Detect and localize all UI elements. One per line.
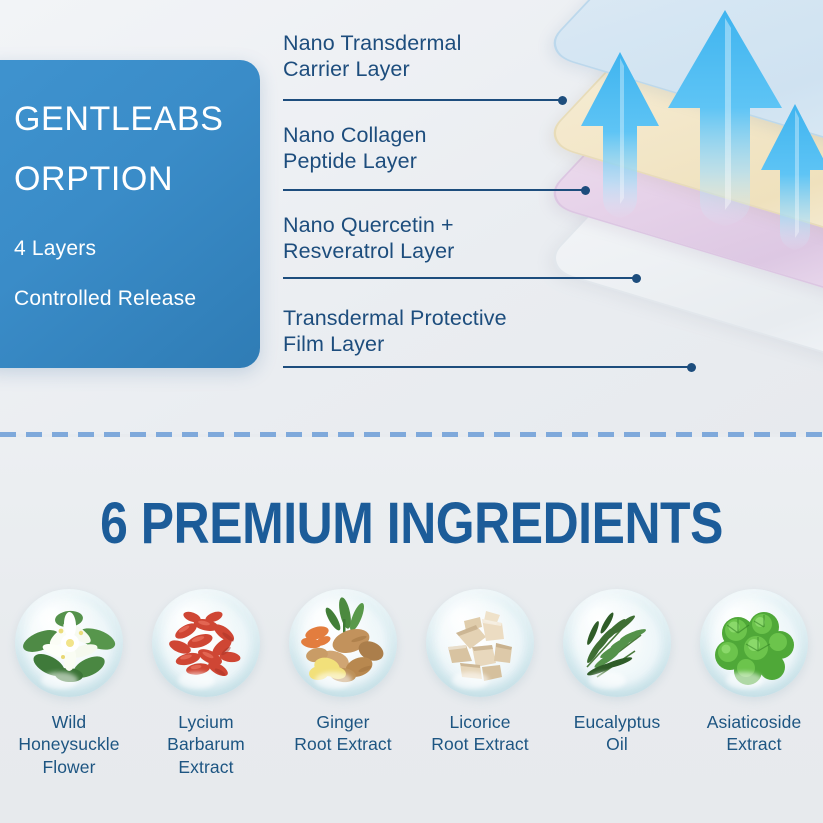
eucalyptus-leaf-icon: [563, 589, 671, 697]
brand-name-line-2: ORPTION: [14, 162, 242, 196]
brand-subtitle-controlled-release: Controlled Release: [14, 288, 242, 310]
ingredient-label-4: Licorice Root Extract: [431, 711, 528, 756]
premium-ingredients-section: 6 PREMIUM INGREDIENTS: [0, 437, 823, 823]
ingredient-bubble-4: [426, 589, 534, 697]
brand-subtitle-layers: 4 Layers: [14, 238, 242, 260]
ginger-root-icon: [289, 589, 397, 697]
ingredient-item-ginger-root-extract[interactable]: Ginger Root Extract: [275, 589, 412, 756]
ingredient-bubble-5: [563, 589, 671, 697]
callout-label-3: Nano Quercetin + Resveratrol Layer: [283, 212, 454, 264]
ingredient-item-eucalyptus-oil[interactable]: Eucalyptus Oil: [549, 589, 686, 756]
ingredient-list: Wild Honeysuckle Flower: [0, 589, 823, 778]
ingredient-item-licorice-root-extract[interactable]: Licorice Root Extract: [412, 589, 549, 756]
callout-endpoint-dot-1: [558, 96, 567, 105]
honeysuckle-flower-icon: [15, 589, 123, 697]
licorice-root-icon: [426, 589, 534, 697]
absorption-arrows-group: [455, 0, 823, 240]
ingredient-label-5: Eucalyptus Oil: [574, 711, 661, 756]
callout-leader-line-1: [283, 99, 563, 101]
centella-leaf-icon: [700, 589, 808, 697]
callout-endpoint-dot-4: [687, 363, 696, 372]
callout-label-1: Nano Transdermal Carrier Layer: [283, 30, 461, 82]
brand-name-line-1: GENTLEABS: [14, 102, 242, 136]
ingredient-item-lycium-barbarum-extract[interactable]: Lycium Barbarum Extract: [138, 589, 275, 778]
up-arrow-icon-small-right: [755, 100, 823, 250]
callout-leader-line-2: [283, 189, 586, 191]
callout-label-4: Transdermal Protective Film Layer: [283, 305, 507, 357]
ingredient-bubble-1: [15, 589, 123, 697]
layer-technology-section: GENTLEABS ORPTION 4 Layers Controlled Re…: [0, 0, 823, 434]
ingredient-label-1: Wild Honeysuckle Flower: [18, 711, 119, 778]
callout-endpoint-dot-2: [581, 186, 590, 195]
callout-nano-quercetin-resveratrol-layer: Nano Quercetin + Resveratrol Layer: [283, 212, 454, 264]
ingredient-bubble-2: [152, 589, 260, 697]
callout-nano-transdermal-carrier-layer: Nano Transdermal Carrier Layer: [283, 30, 461, 82]
product-infographic-page: GENTLEABS ORPTION 4 Layers Controlled Re…: [0, 0, 823, 823]
callout-nano-collagen-peptide-layer: Nano Collagen Peptide Layer: [283, 122, 427, 174]
callout-leader-line-4: [283, 366, 692, 368]
goji-berry-icon: [152, 589, 260, 697]
callout-leader-line-3: [283, 277, 637, 279]
ingredients-heading: 6 PREMIUM INGREDIENTS: [58, 490, 766, 557]
ingredient-item-wild-honeysuckle-flower[interactable]: Wild Honeysuckle Flower: [1, 589, 138, 778]
callout-label-2: Nano Collagen Peptide Layer: [283, 122, 427, 174]
ingredient-bubble-3: [289, 589, 397, 697]
callout-transdermal-protective-film-layer: Transdermal Protective Film Layer: [283, 305, 507, 357]
ingredient-bubble-6: [700, 589, 808, 697]
brand-title-card: GENTLEABS ORPTION 4 Layers Controlled Re…: [0, 60, 260, 368]
ingredient-item-asiaticoside-extract[interactable]: Asiaticoside Extract: [686, 589, 823, 756]
ingredient-label-3: Ginger Root Extract: [294, 711, 391, 756]
ingredient-label-2: Lycium Barbarum Extract: [167, 711, 245, 778]
callout-endpoint-dot-3: [632, 274, 641, 283]
ingredient-label-6: Asiaticoside Extract: [707, 711, 802, 756]
brand-title-card-content: GENTLEABS ORPTION 4 Layers Controlled Re…: [14, 102, 242, 310]
